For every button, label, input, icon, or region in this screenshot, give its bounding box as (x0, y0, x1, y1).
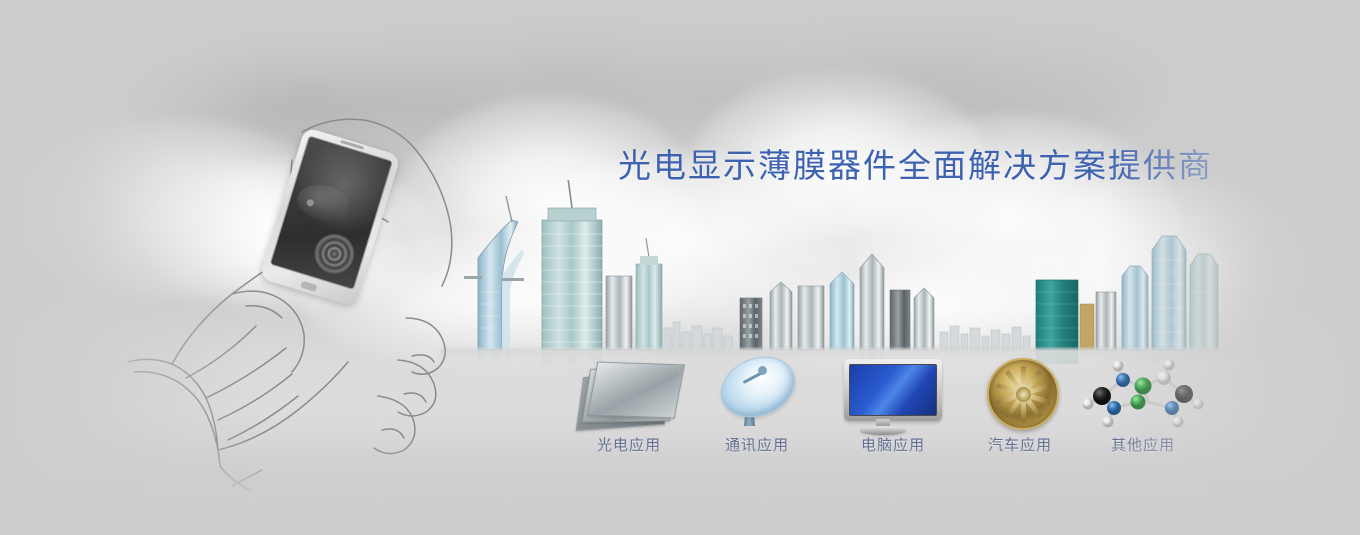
wheel-rim (987, 358, 1059, 430)
monitor-base (860, 426, 906, 435)
atom-nitrogen-2 (1107, 401, 1121, 415)
application-icon-row: 光电应用 通讯应用 电脑应用 (0, 352, 1360, 472)
atom-nitrogen (1116, 373, 1130, 387)
hero-banner: 光电显示薄膜器件全面解决方案提供商 光电应用 通讯应用 (0, 0, 1360, 535)
satellite-dish-icon (682, 352, 832, 430)
atom-carbon (1175, 385, 1193, 403)
atom-carbon (1093, 387, 1111, 405)
monitor-bezel (844, 359, 942, 421)
phone-home-button (300, 281, 317, 292)
app-label-communications: 通讯应用 (682, 434, 832, 455)
atom-hydrogen-7 (1173, 417, 1184, 428)
atom-hydrogen-6 (1103, 417, 1114, 428)
atom-hydrogen (1157, 371, 1171, 385)
dish-reflector (717, 349, 799, 425)
app-item-others[interactable]: 其他应用 (1068, 352, 1218, 455)
city-skyline (440, 180, 1230, 365)
glass-pane-front (587, 361, 685, 418)
page-title: 光电显示薄膜器件全面解决方案提供商 (618, 139, 1213, 187)
atom-nitrogen-3 (1165, 401, 1179, 415)
dish-lnb (758, 366, 767, 375)
screen-swirl-graphic (295, 181, 352, 223)
wheel-hub (1016, 387, 1031, 402)
app-item-communications[interactable]: 通讯应用 (682, 352, 832, 455)
screen-ripple-graphic (309, 229, 359, 279)
atom-center (1135, 378, 1152, 395)
atom-hydrogen-3 (1193, 399, 1204, 410)
atom-hydrogen-4 (1113, 361, 1124, 372)
atom-hydrogen-5 (1164, 360, 1175, 371)
atom-hydrogen-2 (1083, 399, 1094, 410)
atom-center-2 (1131, 395, 1146, 410)
monitor-screen (849, 364, 937, 416)
app-label-others: 其他应用 (1068, 434, 1218, 455)
molecule-icon (1068, 352, 1218, 430)
molecule-model (1068, 352, 1218, 430)
